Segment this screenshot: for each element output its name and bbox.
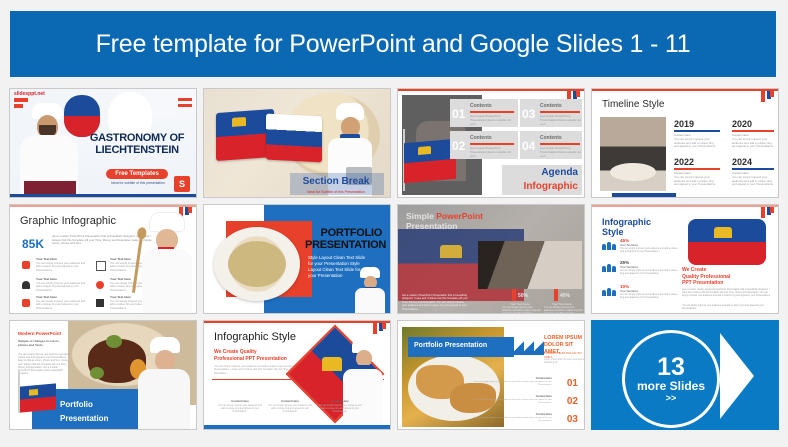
slide-thumbnail-11[interactable]: Portfolio Presentation LOREM IPSUM DOLOR…	[397, 320, 585, 430]
timeline-body-4: You can simply impress your audience and…	[732, 176, 776, 187]
stat-percent-2: 40%	[560, 293, 570, 299]
slide-thumbnail-9[interactable]: Modern PowerPoint Sample of changes in c…	[9, 320, 197, 430]
agenda-rule-4	[540, 143, 580, 145]
blob-title-line1: Portfolio	[60, 400, 93, 409]
cta-line1: We Create	[682, 267, 706, 273]
infographic-subtitle: We Create Quality Professional PPT Prese…	[214, 349, 306, 362]
bottom-accent-bar	[204, 425, 390, 429]
cta-line3: PPT Presentation	[682, 280, 723, 286]
slide1-red-bar-2	[14, 104, 23, 108]
agenda-label-1: Contents	[470, 103, 492, 109]
stat-percent-3: 10%	[620, 284, 629, 289]
column-label-3: Content Here	[318, 399, 362, 403]
numbered-row-2: Content Here You can simply impress your…	[460, 395, 580, 415]
more-slides-count: 13	[657, 355, 685, 379]
row-body-2: You can simply impress your audience and…	[472, 399, 552, 405]
numbered-row-1: Content Here You can simply impress your…	[460, 377, 580, 397]
liechtenstein-flag-icon	[688, 219, 766, 265]
camera-icon	[22, 299, 30, 307]
more-slides-circle[interactable]: 13 more Slides >>	[622, 330, 720, 428]
liechtenstein-flag-badge-icon	[64, 95, 100, 137]
cta-body-2: You can simply impress your audience and…	[682, 305, 764, 310]
cta-body-2-wrap: You can simply impress your audience and…	[682, 305, 772, 311]
modern-powerpoint-body: You can simply impress your audience and…	[18, 353, 70, 375]
slide-thumbnail-7[interactable]: Simple PowerPoint Presentation 50% 40% Y…	[397, 204, 585, 314]
agenda-rule-3	[540, 111, 580, 113]
chevron-right-icon-2	[524, 339, 534, 355]
item-body-5: You can simply impress your audience and…	[36, 300, 88, 310]
stat-body-1: You can simply impress your audience and…	[620, 248, 682, 254]
agenda-title-line2: Infographic	[524, 181, 578, 192]
timeline-year-3: 2022	[674, 157, 694, 167]
book-icon	[96, 299, 104, 307]
row-body-1: You can simply impress your audience and…	[472, 381, 552, 387]
item-label-6: Your Text Here	[110, 295, 131, 299]
people-group-icon-2	[602, 263, 616, 272]
agenda-body-4: Get simple PowerPoint Presentation that …	[540, 146, 584, 158]
row-number-2: 02	[567, 396, 578, 407]
chef-body	[138, 369, 190, 429]
subtitle-line1: We Create Quality	[214, 349, 257, 355]
agenda-body-2: Get simple PowerPoint Presentation that …	[470, 146, 514, 158]
column-3: Content Here You can simply impress your…	[318, 399, 362, 414]
ribbon-label: Portfolio Presentation	[414, 342, 487, 349]
stat-body-2: You can simply impress your audience and…	[620, 270, 682, 276]
stat-body-2: You can simply impress your audience and…	[544, 306, 584, 314]
people-group-icon-1	[602, 241, 616, 250]
more-slides-label: more Slides	[637, 379, 705, 393]
liechtenstein-flag-icon	[404, 139, 456, 184]
agenda-rule-2	[470, 143, 514, 145]
watermark: slidesppt.net	[14, 91, 45, 97]
crown-icon	[714, 227, 732, 238]
checkbox-icon	[96, 261, 106, 271]
plating-photo	[600, 117, 666, 191]
top-rule	[592, 205, 778, 207]
column-body-1: You can simply impress your audience and…	[218, 405, 262, 414]
slide7-body: Get a modern PowerPoint Presentation tha…	[402, 294, 468, 311]
crown-icon	[440, 245, 462, 258]
agenda-number-4: 04	[522, 139, 535, 153]
crown-icon	[232, 117, 246, 127]
blob-title-line2: Presentation	[60, 414, 108, 423]
more-slides-chevrons: >>	[666, 393, 677, 404]
item-label-1: Your Text Here	[36, 257, 57, 261]
portfolio-title-line2: PRESENTATION	[305, 239, 386, 251]
agenda-number-1: 01	[452, 107, 465, 121]
corner-accent-marks	[368, 323, 386, 335]
title-highlight: PowerPoint	[436, 211, 483, 221]
banner-title: Free template for PowerPoint and Google …	[96, 30, 691, 59]
row-body-3: You can simply impress your audience and…	[472, 417, 552, 423]
up-arrow-icon-1	[512, 289, 516, 301]
slide-thumbnail-grid: slidesppt.net GASTRONOMY OF LIECHTENSTEI…	[9, 88, 781, 440]
title-plain: Simple	[406, 211, 436, 221]
slide-thumbnail-10[interactable]: Infographic Style We Create Quality Prof…	[203, 320, 391, 430]
simple-powerpoint-title-line1: Simple PowerPoint	[406, 211, 483, 221]
stat-percent-1: 45%	[620, 238, 629, 243]
timeline-year-4: 2024	[732, 157, 752, 167]
stat-label-1: Your Text Here	[620, 244, 638, 247]
chef-figure	[134, 213, 196, 313]
slide1-title-line1: GASTRONOMY OF	[90, 132, 184, 144]
item-label-5: Your Text Here	[36, 295, 57, 299]
portfolio-title-line1: PORTFOLIO	[321, 227, 382, 239]
brand-logo: S	[174, 176, 190, 192]
cloud-icon	[22, 281, 30, 289]
simple-powerpoint-title-line2: Presentation	[406, 221, 458, 231]
chef-figure	[352, 267, 388, 313]
chef-figure	[132, 337, 194, 429]
alarm-icon	[22, 261, 30, 269]
slide-thumbnail-6[interactable]: PORTFOLIO PRESENTATION Style Layout Clea…	[203, 204, 391, 314]
timeline-rule-4	[732, 168, 774, 170]
free-templates-button[interactable]: Free Templates	[106, 169, 168, 179]
row-label-2: Content Here	[472, 395, 552, 398]
infographic-title-line1: Infographic	[602, 217, 651, 227]
column-label-2: Content Here	[268, 399, 312, 403]
agenda-number-3: 03	[522, 107, 535, 121]
slide1-title: GASTRONOMY OF LIECHTENSTEIN	[78, 133, 196, 156]
top-rule	[398, 89, 584, 91]
item-label-4: Your Text Here	[110, 277, 131, 281]
stat-body-1: You can simply impress your audience and…	[502, 306, 542, 314]
chevron-right-icon-1	[514, 339, 524, 355]
item-body-3: You can simply impress your audience and…	[36, 282, 88, 292]
more-slides-tile[interactable]: 13 more Slides >>	[591, 320, 779, 430]
top-rule	[10, 205, 196, 207]
timeline-year-2: 2020	[732, 119, 752, 129]
bottom-accent-bar	[612, 193, 676, 197]
stat-body-3: You can simply impress your audience and…	[620, 294, 682, 300]
chef-body	[355, 288, 385, 314]
cta-body: Get a modern, clearly designed PowerPoin…	[682, 289, 772, 298]
agenda-body-3: Get simple PowerPoint Presentation that …	[540, 114, 584, 126]
slide1-red-bar-right-2	[178, 104, 192, 107]
cta-line2: Quality Professional	[682, 274, 730, 280]
row-label-3: Content Here	[472, 413, 552, 416]
flag-icon-2	[266, 114, 322, 163]
chevron-right-icon-3	[534, 339, 544, 355]
column-2: Content Here You can simply impress your…	[268, 399, 312, 414]
item-label-3: Your Text Here	[36, 277, 57, 281]
timeline-body-2: You can simply impress your audience and…	[732, 138, 776, 149]
stat-label-2: Your Text Here	[620, 266, 638, 269]
stat-percent-2: 25%	[620, 260, 629, 265]
slide-thumbnail-1[interactable]: slidesppt.net GASTRONOMY OF LIECHTENSTEI…	[9, 88, 197, 198]
column-body-2: You can simply impress your audience and…	[268, 405, 312, 414]
slide-thumbnail-4[interactable]: Timeline Style 2019 2020 2022 2024 Conte…	[591, 88, 779, 198]
food-garnish	[622, 167, 642, 176]
timeline-year-1: 2019	[674, 119, 694, 129]
slide-thumbnail-5[interactable]: Graphic Infographic 85K Get a modern Pow…	[9, 204, 197, 314]
modern-powerpoint-subtitle: Sample of changes in colors, photos and …	[18, 339, 70, 347]
timeline-body-3: You can simply impress your audience and…	[674, 176, 718, 187]
row-number-1: 01	[567, 378, 578, 389]
agenda-label-3: Contents	[540, 103, 562, 109]
agenda-title-line1: Agenda	[541, 167, 578, 178]
people-group-icon-3	[602, 287, 616, 296]
agenda-label-4: Contents	[540, 135, 562, 141]
top-rule	[204, 321, 390, 323]
agenda-rule-1	[470, 111, 514, 113]
subtitle-line2: Professional PPT Presentation	[214, 356, 287, 362]
timeline-title: Timeline Style	[602, 99, 664, 110]
header-banner: Free template for PowerPoint and Google …	[10, 11, 776, 77]
crown-icon	[322, 357, 342, 371]
slide-thumbnail-2[interactable]: Section Break Ideal for Subtitle of this…	[203, 88, 391, 198]
top-rule	[592, 89, 778, 91]
graphic-infographic-title: Graphic Infographic	[20, 215, 116, 227]
numbered-row-3: Content Here You can simply impress your…	[460, 413, 580, 430]
stat-value: 85K	[22, 237, 44, 251]
vegetable-garnish-2	[90, 367, 104, 379]
timeline-rule-2	[732, 130, 774, 132]
slide1-title-line2: LIECHTENSTEIN	[95, 144, 179, 156]
lorem-subheading: LOREM IPSUM DOLOR SIT AMET,	[544, 351, 585, 359]
corner-accent-marks	[756, 207, 774, 219]
row-number-3: 03	[567, 414, 578, 425]
modern-powerpoint-header: Modern PowerPoint	[18, 331, 61, 336]
vegetable-garnish-1	[106, 335, 122, 348]
timeline-body-1: You can simply impress your audience and…	[674, 138, 718, 149]
slide-thumbnail-8[interactable]: Infographic Style 45% Your Text Here You…	[591, 204, 779, 314]
infographic-style-title: Infographic Style	[214, 331, 296, 343]
heart-icon	[96, 281, 104, 289]
corner-accent-marks	[756, 91, 774, 103]
slide1-red-bar-right-1	[178, 98, 192, 101]
agenda-number-2: 02	[452, 139, 465, 153]
timeline-rule-3	[674, 168, 720, 170]
agenda-body-1: Get simple PowerPoint Presentation that …	[470, 114, 514, 126]
lorem-subbody: Lorem ipsum dolor sit amet consectetur a…	[544, 359, 585, 365]
item-body-1: You can simply impress your audience and…	[36, 262, 88, 272]
slide1-red-bar-1	[14, 98, 28, 102]
crown-icon	[29, 389, 38, 396]
liechtenstein-flag-icon	[20, 383, 56, 412]
section-break-subtitle: Ideal for Subtitle of this Presentation	[292, 190, 380, 194]
kitchen-photo	[478, 241, 582, 289]
slide1-subtitle: Ideal for subtitle of this presentation	[102, 181, 174, 185]
pasta-photo	[214, 227, 300, 301]
template-preview-page: Free template for PowerPoint and Google …	[0, 0, 788, 447]
item-label-2: Your Text Here	[110, 257, 131, 261]
agenda-label-2: Contents	[470, 135, 492, 141]
arrow-right-icon	[720, 333, 754, 419]
cta-heading: We Create Quality Professional PPT Prese…	[682, 267, 772, 287]
timeline-rule-1	[674, 130, 720, 132]
infographic-title-line2: Style	[602, 227, 624, 237]
chef-body	[343, 369, 383, 425]
row-label-1: Content Here	[472, 377, 552, 380]
crown-icon	[418, 146, 431, 155]
section-break-title: Section Break	[292, 176, 380, 187]
slide-thumbnail-3[interactable]: 01 02 03 04 Contents Contents Contents C…	[397, 88, 585, 198]
chef-body	[142, 249, 192, 314]
stat-label-3: Your Text Here	[620, 290, 638, 293]
slide1-bottom-rule	[10, 194, 196, 197]
stat-percent-1: 50%	[518, 293, 528, 299]
column-1: Content Here You can simply impress your…	[218, 399, 262, 414]
column-body-3: You can simply impress your audience and…	[318, 405, 362, 414]
column-label-1: Content Here	[218, 399, 262, 403]
cta-body-1: Get a modern, clearly designed PowerPoin…	[682, 289, 771, 297]
up-arrow-icon-2	[554, 289, 558, 301]
chef-head	[155, 350, 175, 371]
lorem-heading-line1: LOREM IPSUM	[544, 335, 582, 341]
